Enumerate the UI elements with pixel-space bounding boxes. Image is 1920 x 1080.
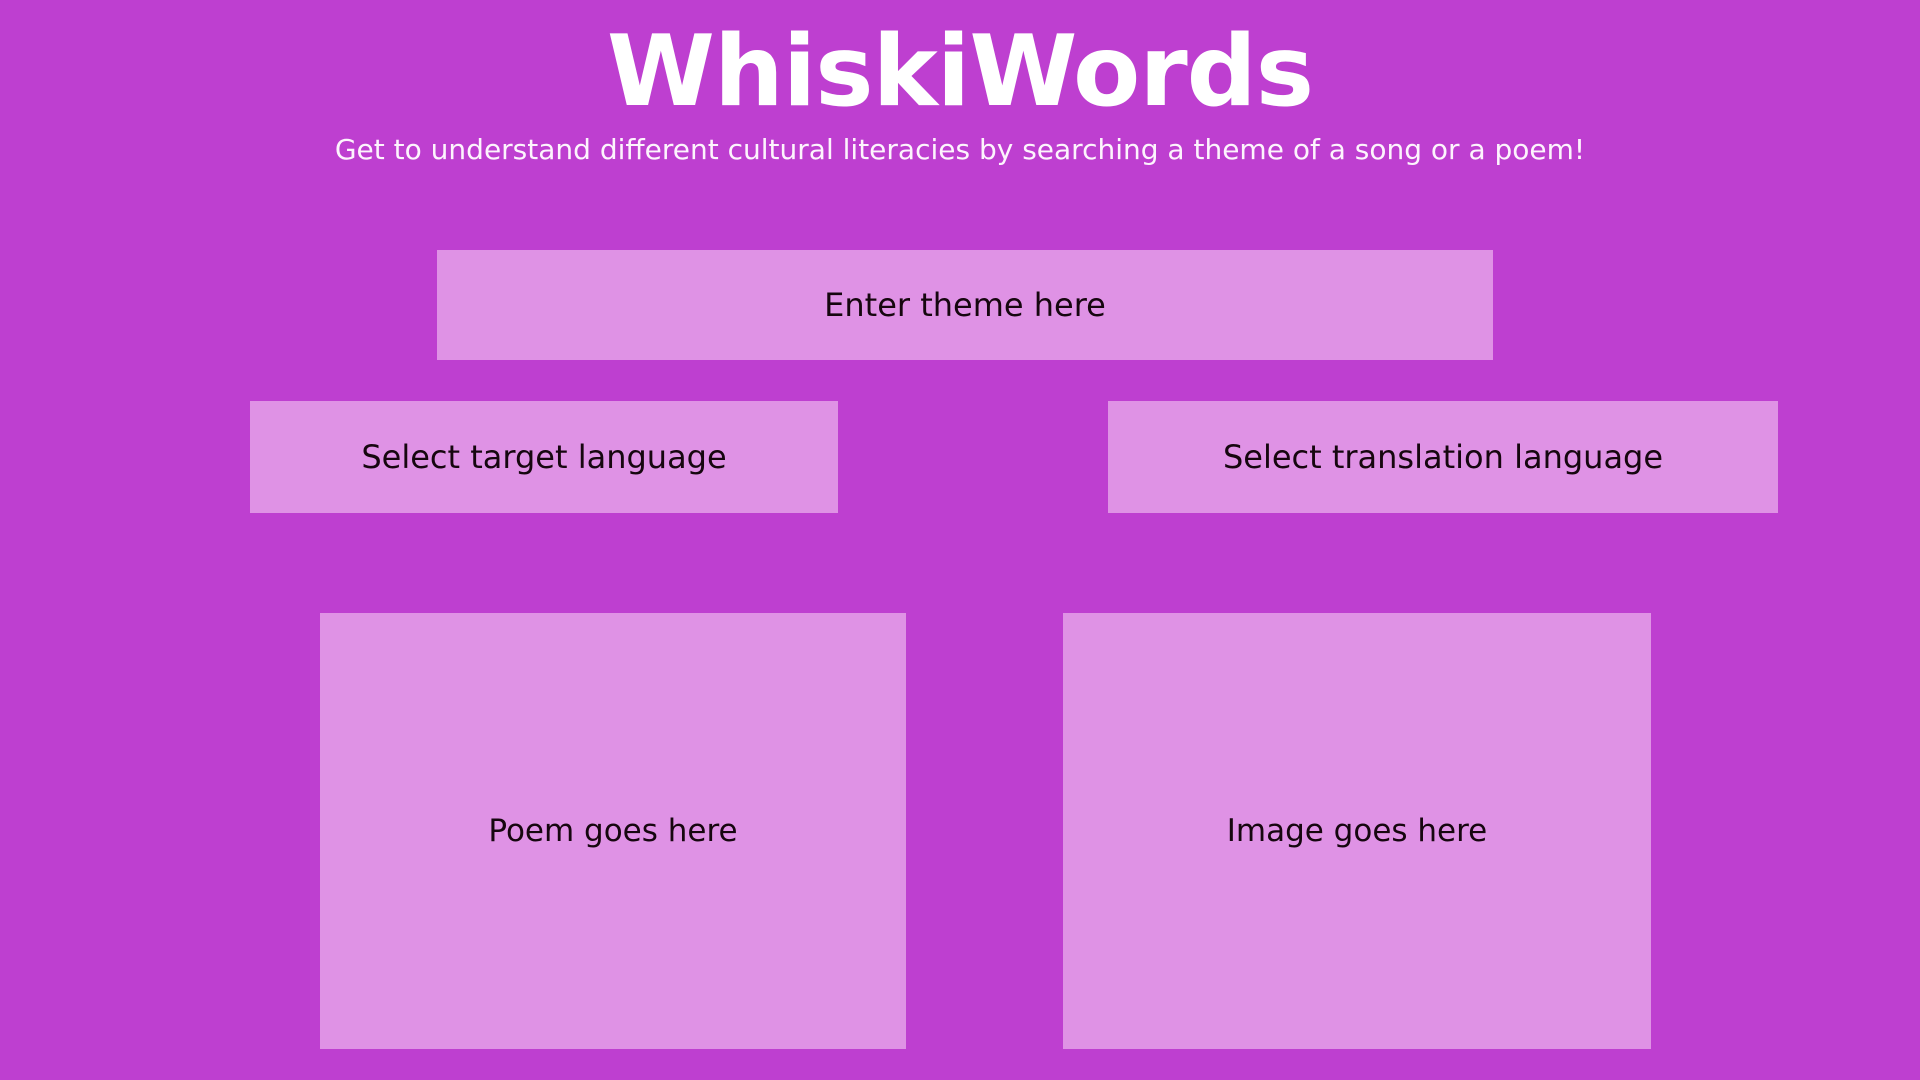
poem-output-placeholder: Poem goes here: [488, 813, 737, 849]
poem-output-panel: Poem goes here: [320, 613, 906, 1049]
select-target-language[interactable]: Select target language: [250, 401, 838, 513]
select-translation-language-label: Select translation language: [1223, 438, 1663, 476]
theme-input-placeholder: Enter theme here: [824, 286, 1106, 324]
app-root: WhiskiWords Get to understand different …: [0, 0, 1920, 1080]
select-target-language-label: Select target language: [361, 438, 726, 476]
select-translation-language[interactable]: Select translation language: [1108, 401, 1778, 513]
image-output-panel: Image goes here: [1063, 613, 1651, 1049]
image-output-placeholder: Image goes here: [1227, 813, 1488, 849]
app-header: WhiskiWords Get to understand different …: [0, 0, 1920, 167]
theme-input[interactable]: Enter theme here: [437, 250, 1493, 360]
page-subtitle: Get to understand different cultural lit…: [0, 132, 1920, 167]
page-title: WhiskiWords: [0, 22, 1920, 124]
